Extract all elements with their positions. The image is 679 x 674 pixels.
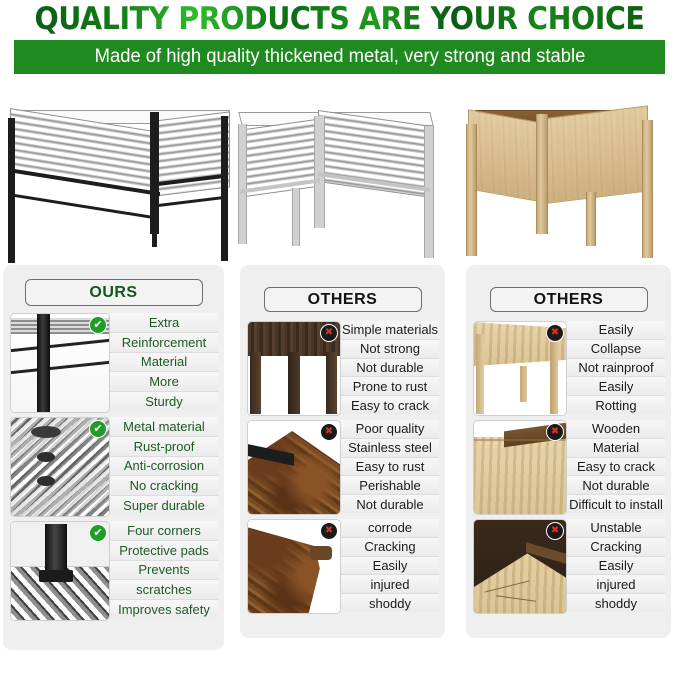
feature-line: Anti-corrosion — [110, 457, 218, 477]
cross-icon: ✖ — [546, 324, 564, 342]
feature-line: scratches — [110, 580, 218, 600]
cross-icon: ✖ — [546, 423, 564, 441]
feature-line: Stainless steel — [341, 439, 439, 458]
feature-line: Easily — [567, 321, 665, 340]
cross-icon: ✖ — [320, 324, 338, 342]
panel-others-right: OTHERS ✖ Easily Collapse Not rainproof E… — [466, 265, 671, 638]
comparison-row: ✖ Poor quality Stainless steel Easy to r… — [247, 420, 439, 513]
product-image-galvanized-metal-raised-bed-silver-legs — [236, 80, 440, 265]
feature-line: More — [110, 372, 218, 392]
comparison-row: ✖ Wooden Material Easy to crack Not dura… — [473, 420, 665, 513]
thumbnail-cracked-wood-corner: ✖ — [473, 519, 567, 614]
panel-header-ours: OURS — [25, 279, 203, 306]
feature-line: Easily — [341, 557, 439, 576]
feature-list: Simple materials Not strong Not durable … — [341, 321, 439, 414]
comparison-row: ✔ Four corners Protective pads Prevents … — [10, 521, 218, 619]
feature-line: Prone to rust — [341, 377, 439, 396]
cross-icon: ✖ — [546, 522, 564, 540]
feature-line: Easily — [567, 377, 665, 396]
product-image-row — [0, 80, 679, 265]
feature-line: Perishable — [341, 476, 439, 495]
feature-line: shoddy — [567, 594, 665, 612]
feature-line: Wooden — [567, 420, 665, 439]
feature-line: Extra — [110, 313, 218, 333]
comparison-row: ✖ corrode Cracking Easily injured shoddy — [247, 519, 439, 612]
feature-line: Difficult to install — [567, 495, 665, 513]
feature-line: Not strong — [341, 340, 439, 359]
feature-list: Extra Reinforcement Material More Sturdy — [110, 313, 218, 411]
feature-line: Simple materials — [341, 321, 439, 340]
comparison-section: OURS ✔ Extra Reinforcement Material More… — [0, 265, 679, 660]
feature-line: Prevents — [110, 561, 218, 581]
feature-list: Unstable Cracking Easily injured shoddy — [567, 519, 665, 612]
thumbnail-dark-weathered-wood-frame: ✖ — [247, 321, 341, 416]
feature-line: No cracking — [110, 476, 218, 496]
feature-line: injured — [341, 575, 439, 594]
feature-line: Sturdy — [110, 392, 218, 411]
subtitle-bar: Made of high quality thickened metal, ve… — [14, 40, 665, 74]
thumbnail-corner-protective-pad: ✔ — [10, 521, 110, 621]
feature-line: Easy to crack — [567, 458, 665, 477]
feature-line: Cracking — [341, 538, 439, 557]
feature-line: Cracking — [567, 538, 665, 557]
feature-line: Protective pads — [110, 541, 218, 561]
cross-icon: ✖ — [320, 522, 338, 540]
feature-list: Wooden Material Easy to crack Not durabl… — [567, 420, 665, 513]
feature-line: Poor quality — [341, 420, 439, 439]
panel-ours: OURS ✔ Extra Reinforcement Material More… — [3, 265, 224, 650]
feature-line: Not durable — [567, 476, 665, 495]
check-icon: ✔ — [89, 316, 107, 334]
comparison-row: ✖ Simple materials Not strong Not durabl… — [247, 321, 439, 414]
feature-line: Easy to rust — [341, 458, 439, 477]
comparison-row: ✖ Unstable Cracking Easily injured shodd… — [473, 519, 665, 612]
feature-line: Rust-proof — [110, 437, 218, 457]
feature-list: Four corners Protective pads Prevents sc… — [110, 521, 218, 619]
feature-list: Easily Collapse Not rainproof Easily Rot… — [567, 321, 665, 414]
comparison-row: ✔ Extra Reinforcement Material More Stur… — [10, 313, 218, 411]
feature-line: Four corners — [110, 521, 218, 541]
feature-line: injured — [567, 575, 665, 594]
feature-line: Improves safety — [110, 600, 218, 619]
feature-line: Super durable — [110, 496, 218, 515]
feature-line: Not durable — [341, 359, 439, 378]
feature-line: Material — [567, 439, 665, 458]
thumbnail-cracked-wood-planter: ✖ — [473, 420, 567, 515]
thumbnail-black-post-reinforcement: ✔ — [10, 313, 110, 413]
feature-line: Material — [110, 353, 218, 373]
feature-line: shoddy — [341, 594, 439, 612]
comparison-row: ✖ Easily Collapse Not rainproof Easily R… — [473, 321, 665, 414]
feature-list: corrode Cracking Easily injured shoddy — [341, 519, 439, 612]
feature-line: Metal material — [110, 417, 218, 437]
panel-header-others-right: OTHERS — [490, 287, 648, 312]
check-icon: ✔ — [89, 524, 107, 542]
feature-list: Metal material Rust-proof Anti-corrosion… — [110, 417, 218, 515]
feature-line: Collapse — [567, 340, 665, 359]
feature-line: Not durable — [341, 495, 439, 513]
thumbnail-light-wood-panel-collapsing: ✖ — [473, 321, 567, 416]
thumbnail-rusted-steel-corner: ✖ — [247, 420, 341, 515]
feature-line: Rotting — [567, 396, 665, 414]
feature-line: Unstable — [567, 519, 665, 538]
feature-line: Easily — [567, 557, 665, 576]
feature-line: Not rainproof — [567, 359, 665, 378]
check-icon: ✔ — [89, 420, 107, 438]
feature-line: corrode — [341, 519, 439, 538]
panel-header-others-middle: OTHERS — [264, 287, 422, 312]
panel-others-middle: OTHERS ✖ Simple materials Not strong Not… — [240, 265, 445, 638]
feature-line: Easy to crack — [341, 396, 439, 414]
product-image-wooden-raised-planter-box — [446, 80, 678, 265]
product-image-galvanized-metal-raised-bed-black-legs — [2, 80, 234, 265]
page-title: QUALITY PRODUCTS ARE YOUR CHOICE — [27, 2, 652, 36]
thumbnail-heavily-corroded-metal: ✖ — [247, 519, 341, 614]
feature-list: Poor quality Stainless steel Easy to rus… — [341, 420, 439, 513]
header: QUALITY PRODUCTS ARE YOUR CHOICE Made of… — [0, 0, 679, 74]
subtitle-text: Made of high quality thickened metal, ve… — [94, 46, 585, 68]
thumbnail-corrugated-metal-corner: ✔ — [10, 417, 110, 517]
comparison-row: ✔ Metal material Rust-proof Anti-corrosi… — [10, 417, 218, 515]
cross-icon: ✖ — [320, 423, 338, 441]
feature-line: Reinforcement — [110, 333, 218, 353]
